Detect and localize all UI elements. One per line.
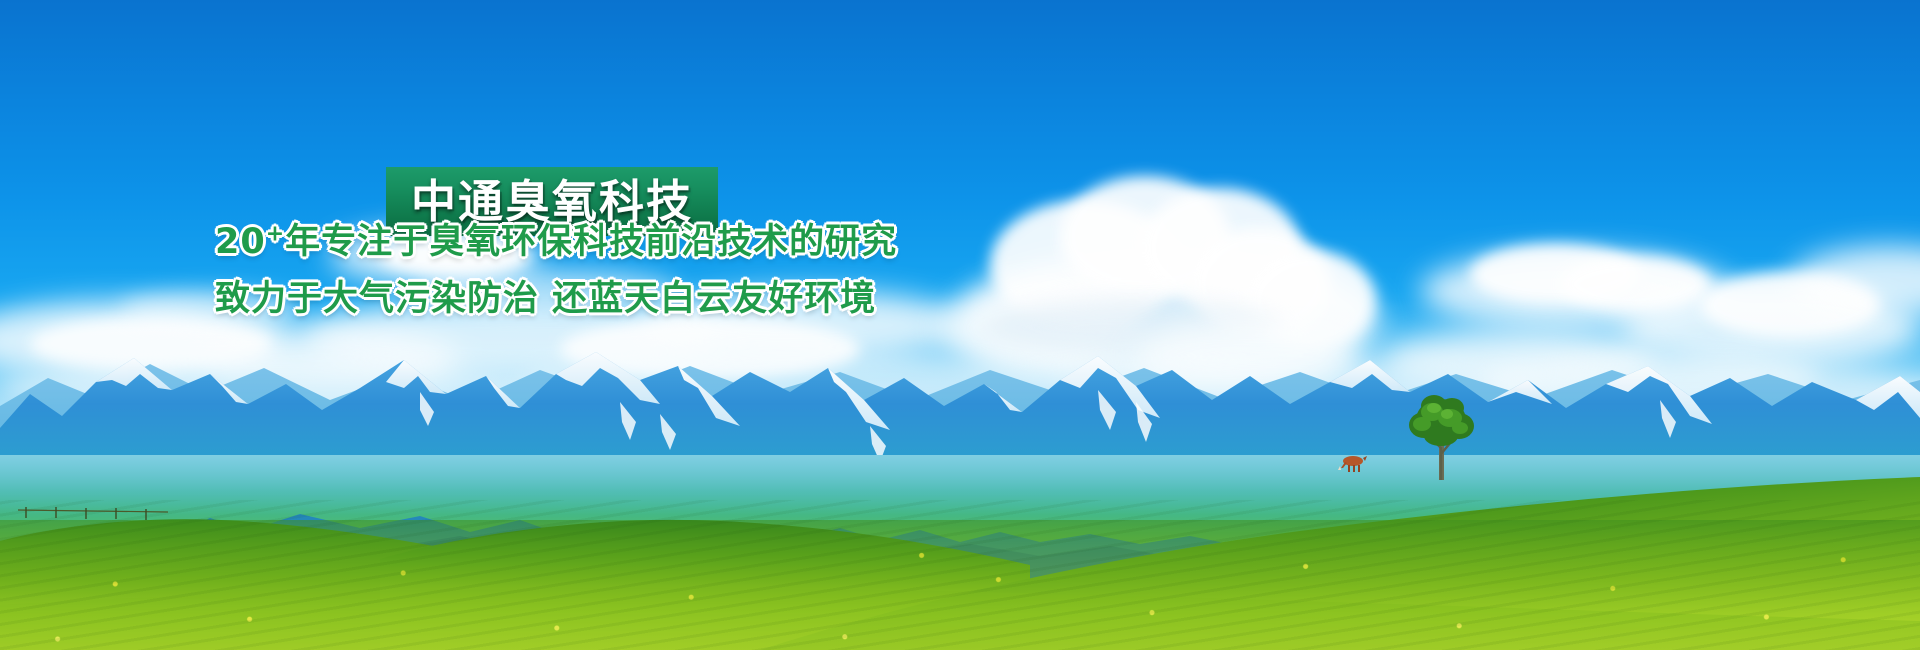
subtitle-plus-superscript: + [266,221,285,246]
text-overlay: 中通臭氧科技 20+年专注于臭氧环保科技前沿技术的研究 致力于大气污染防治 还蓝… [0,0,1920,650]
hero-banner: 中通臭氧科技 20+年专注于臭氧环保科技前沿技术的研究 致力于大气污染防治 还蓝… [0,0,1920,650]
subtitle-number: 20 [215,222,266,262]
subtitle-line-1-text: 年专注于臭氧环保科技前沿技术的研究 [285,222,897,262]
subtitle-line-2: 致力于大气污染防治 还蓝天白云友好环境 [215,270,975,321]
subtitle-line-1: 20+年专注于臭氧环保科技前沿技术的研究 [215,213,975,264]
